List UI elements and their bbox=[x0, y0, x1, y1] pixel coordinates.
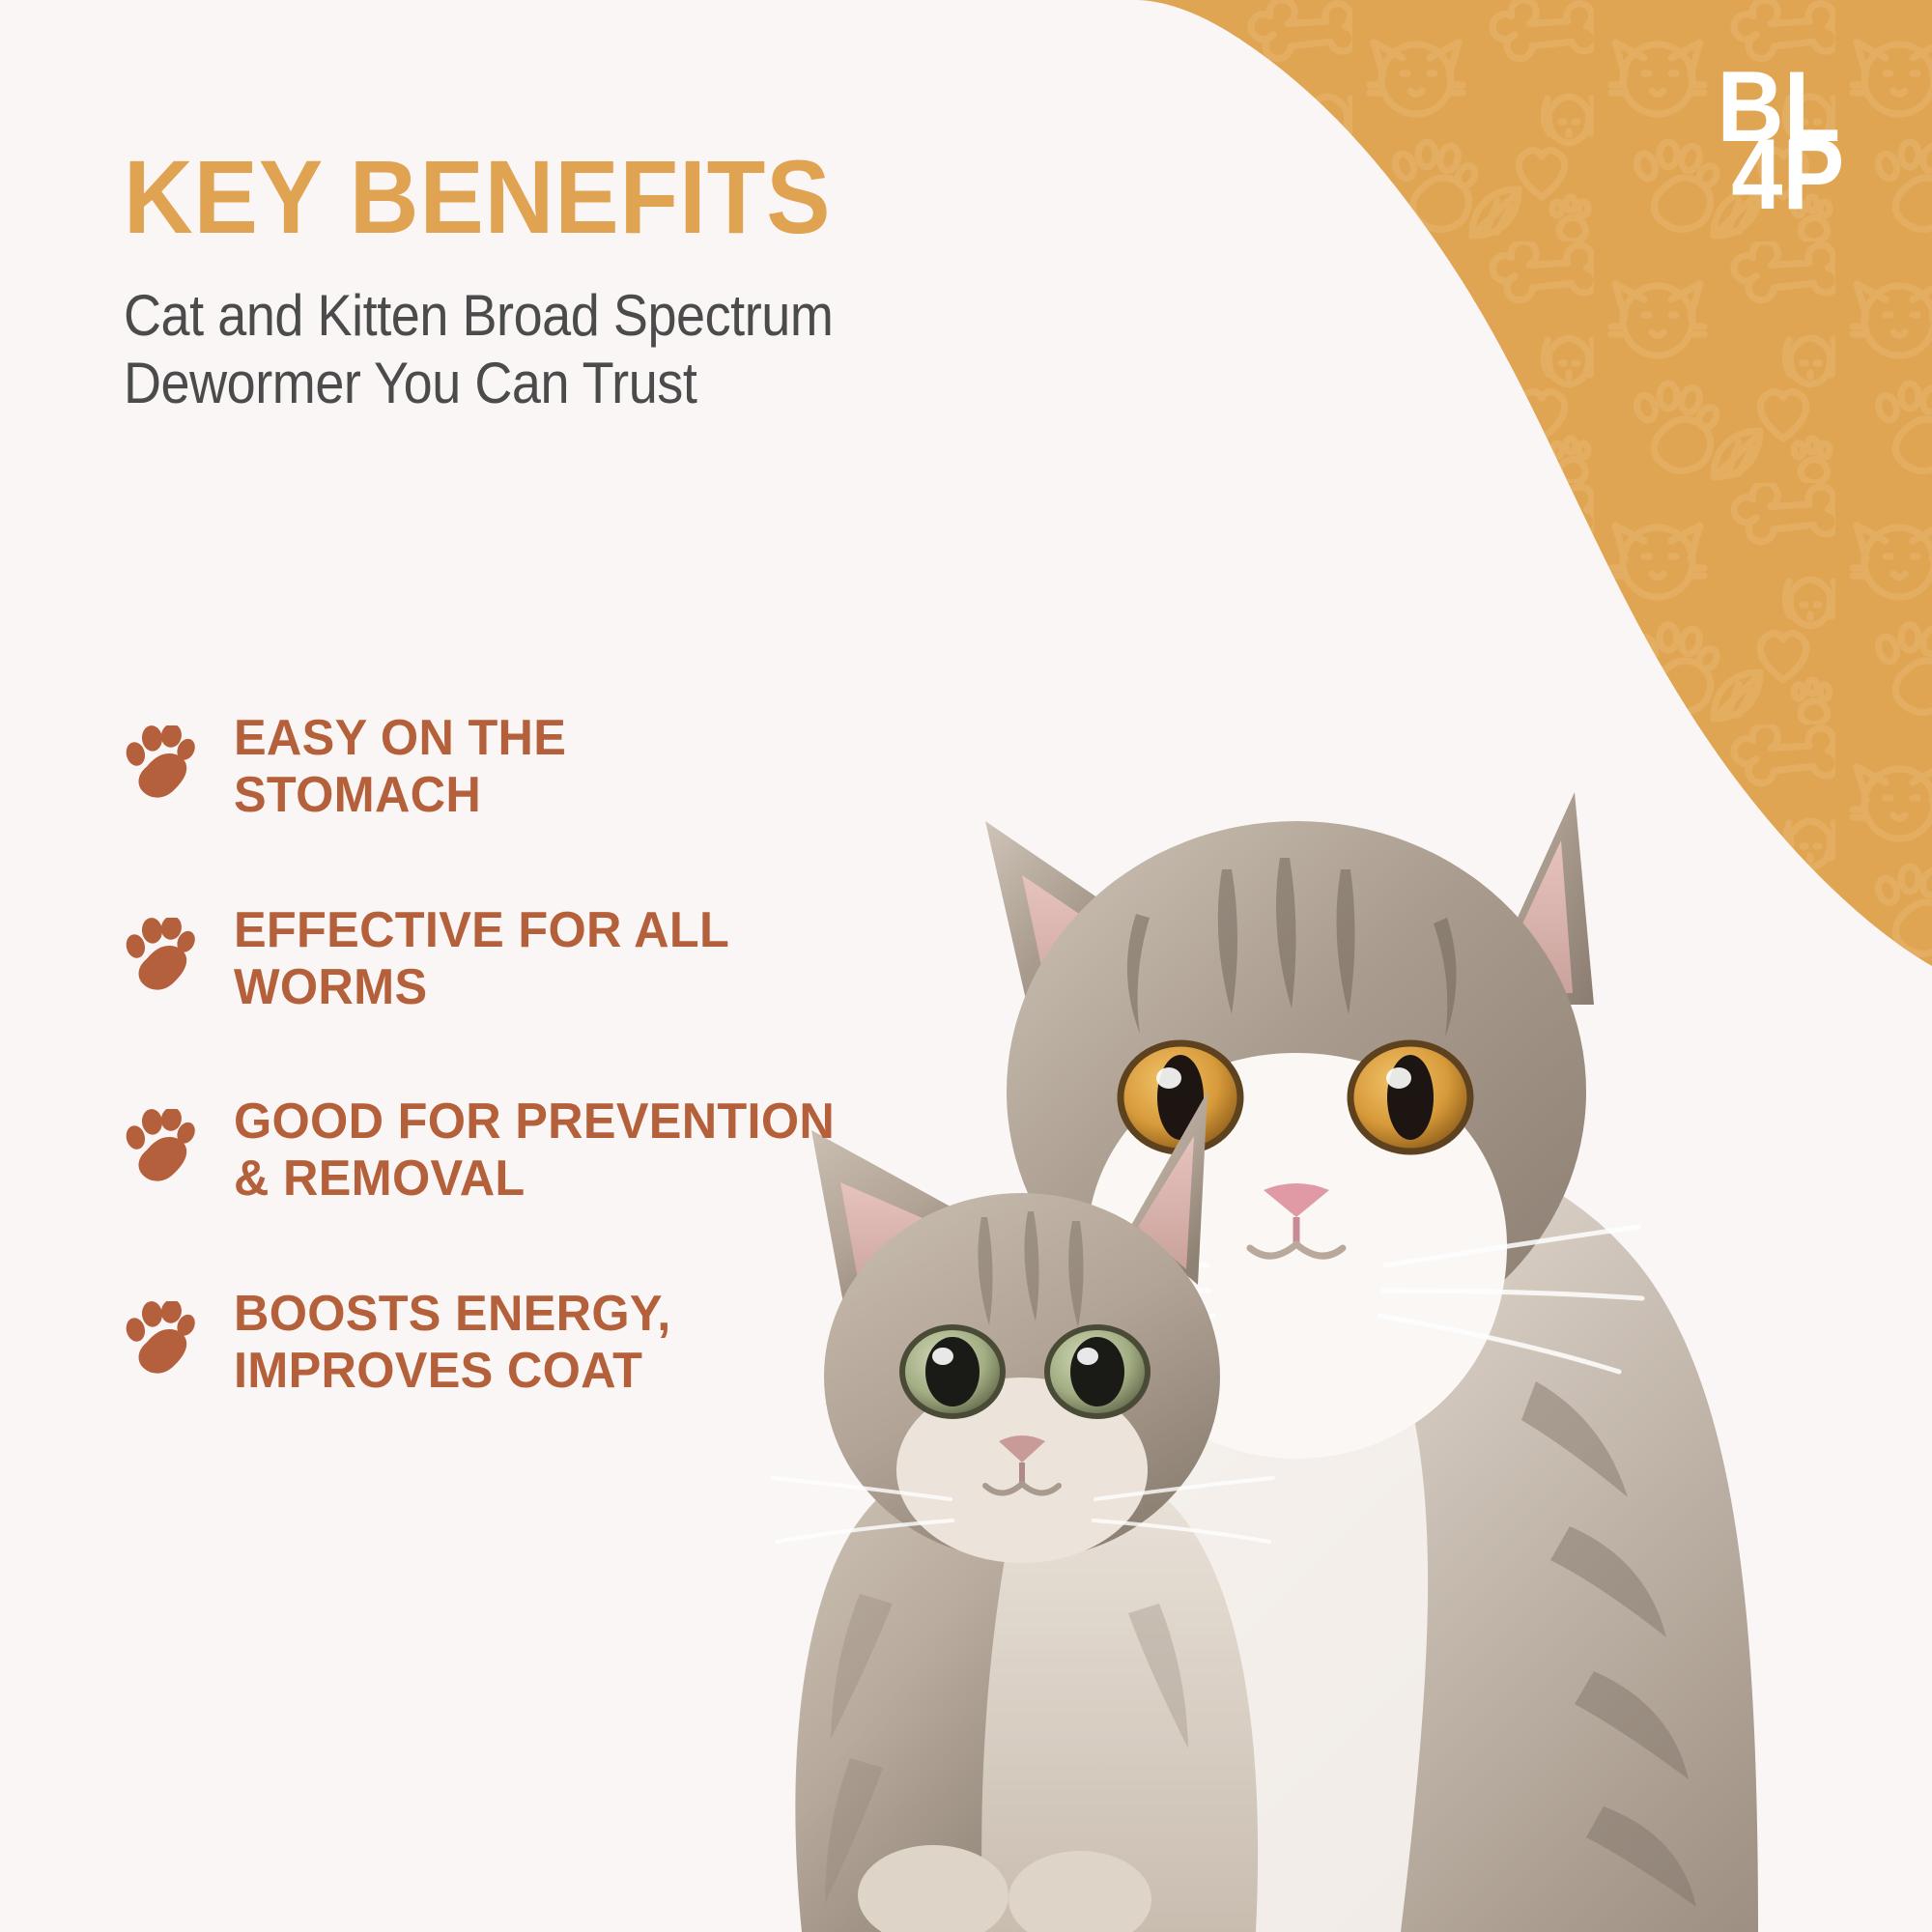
benefit-label: BOOSTS ENERGY, IMPROVES COAT bbox=[234, 1286, 671, 1401]
benefit-label-line-1: GOOD FOR PREVENTION bbox=[234, 1094, 835, 1151]
paw-print-icon bbox=[124, 1301, 197, 1377]
benefit-label-line-1: EFFECTIVE FOR ALL bbox=[234, 902, 729, 959]
benefit-item: EFFECTIVE FOR ALL WORMS bbox=[124, 902, 1099, 1017]
page-title: KEY BENEFITS bbox=[124, 145, 1084, 249]
benefit-item: EASY ON THE STOMACH bbox=[124, 710, 1099, 825]
benefit-item: GOOD FOR PREVENTION & REMOVAL bbox=[124, 1094, 1099, 1208]
benefit-item: BOOSTS ENERGY, IMPROVES COAT bbox=[124, 1286, 1099, 1401]
poster-canvas: BL 4P KEY BENEFITS Cat and Kitten Broad … bbox=[0, 0, 1932, 1932]
benefit-label-line-2: STOMACH bbox=[234, 767, 566, 824]
paw-print-icon bbox=[124, 918, 197, 993]
subtitle-line-1: Cat and Kitten Broad Spectrum bbox=[124, 282, 1063, 350]
benefit-label-line-1: EASY ON THE bbox=[234, 710, 566, 767]
benefit-label-line-2: IMPROVES COAT bbox=[234, 1343, 671, 1400]
benefit-label-line-2: & REMOVAL bbox=[234, 1151, 835, 1207]
page-subtitle: Cat and Kitten Broad Spectrum Dewormer Y… bbox=[124, 282, 1063, 416]
benefit-label: EASY ON THE STOMACH bbox=[234, 710, 566, 825]
benefit-label-line-1: BOOSTS ENERGY, bbox=[234, 1286, 671, 1343]
header-text-block: KEY BENEFITS Cat and Kitten Broad Spectr… bbox=[124, 145, 1167, 416]
benefit-label-line-2: WORMS bbox=[234, 959, 729, 1016]
subtitle-line-2: Dewormer You Can Trust bbox=[124, 350, 1063, 417]
bl4p-logo: BL 4P bbox=[1712, 56, 1886, 215]
logo-text-4p: 4P bbox=[1731, 119, 1844, 215]
benefit-label: GOOD FOR PREVENTION & REMOVAL bbox=[234, 1094, 835, 1208]
benefit-label: EFFECTIVE FOR ALL WORMS bbox=[234, 902, 729, 1017]
benefits-list: EASY ON THE STOMACH EFFECTIVE FOR ALL bbox=[124, 710, 1099, 1400]
paw-print-icon bbox=[124, 1109, 197, 1184]
paw-print-icon bbox=[124, 725, 197, 801]
